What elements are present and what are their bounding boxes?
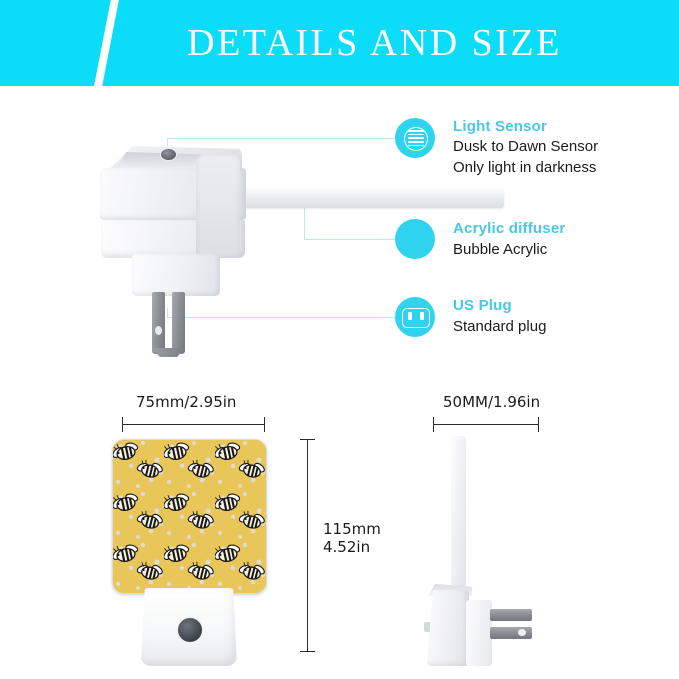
side-depth-label: 50MM/1.96in — [443, 393, 540, 411]
front-width-label: 75mm/2.95in — [136, 393, 236, 411]
front-width-dimension-line — [122, 424, 265, 425]
side-depth-cap-left — [433, 417, 434, 432]
front-height-dimension-line — [307, 439, 308, 651]
product-angled-view — [88, 126, 408, 336]
product-plug-neck — [132, 254, 220, 296]
front-width-cap-right — [264, 417, 265, 432]
product-prong-left — [152, 292, 165, 354]
product-acrylic-panel — [236, 188, 504, 208]
side-depth-cap-right — [538, 417, 539, 432]
us-plug-icon — [395, 297, 435, 337]
product-detail-infographic: DETAILS AND SIZE — [0, 0, 679, 679]
side-acrylic-panel — [451, 436, 466, 602]
acrylic-diffuser-icon — [395, 219, 435, 259]
page-title: DETAILS AND SIZE — [0, 20, 679, 66]
front-height-label-line1: 115mm — [323, 520, 381, 538]
callout-title: US Plug — [453, 297, 512, 314]
bee-pattern-svg — [113, 440, 266, 593]
dimensions-section: 75mm/2.95in — [0, 376, 679, 679]
header-banner: DETAILS AND SIZE — [0, 0, 679, 86]
light-sensor-icon — [395, 118, 435, 158]
outlet-glyph — [402, 308, 430, 328]
callout-light-sensor: Light Sensor Dusk to Dawn Sensor Only li… — [395, 118, 679, 188]
callout-line-2: Only light in darkness — [453, 159, 596, 176]
sensor-grille-glyph — [404, 127, 428, 151]
callout-line-1: Dusk to Dawn Sensor — [453, 138, 598, 155]
front-acrylic-panel-bee-pattern — [112, 439, 267, 594]
side-plug-block — [466, 600, 492, 666]
front-height-label-line2: 4.52in — [323, 538, 370, 556]
callout-title: Light Sensor — [453, 118, 547, 135]
front-height-cap-bottom — [300, 651, 315, 652]
side-depth-dimension-line — [433, 424, 539, 425]
product-right-face — [196, 154, 240, 258]
callout-line-1: Standard plug — [453, 318, 546, 335]
product-light-sensor-dot — [160, 148, 177, 161]
callout-acrylic-diffuser: Acrylic diffuser Bubble Acrylic — [395, 219, 679, 269]
product-prong-hole — [155, 326, 162, 335]
side-prong-hole — [518, 629, 526, 636]
product-prong-right — [172, 292, 185, 354]
callout-us-plug: US Plug Standard plug — [395, 297, 679, 347]
callout-line-1: Bubble Acrylic — [453, 241, 547, 258]
front-width-cap-left — [122, 417, 123, 432]
side-prong-upper — [490, 609, 532, 621]
front-height-cap-top — [300, 439, 315, 440]
side-sensor-button — [424, 622, 430, 632]
product-prong-tip — [152, 348, 185, 357]
side-body-housing — [427, 590, 469, 666]
front-light-sensor — [176, 616, 204, 644]
callout-title: Acrylic diffuser — [453, 220, 565, 237]
features-section: Light Sensor Dusk to Dawn Sensor Only li… — [0, 86, 679, 376]
